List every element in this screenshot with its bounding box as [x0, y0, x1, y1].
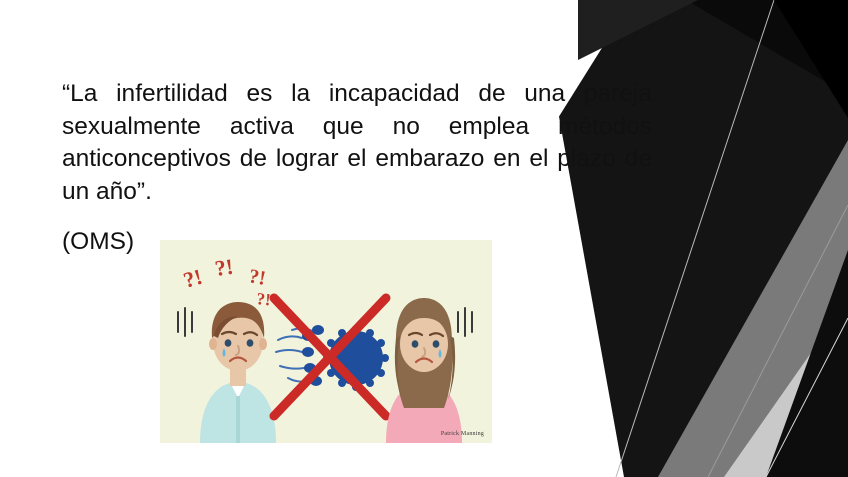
slide: “La infertilidad es la incapacidad de un… [0, 0, 848, 477]
text-block: “La infertilidad es la incapacidad de un… [62, 78, 652, 259]
svg-text:?!: ?! [213, 254, 235, 281]
illustration: ?! ?! ?! ?! [160, 240, 492, 443]
quote-paragraph: “La infertilidad es la incapacidad de un… [62, 78, 652, 208]
svg-text:?!: ?! [256, 289, 272, 309]
illustration-credit: Patrick Manning [441, 431, 484, 437]
